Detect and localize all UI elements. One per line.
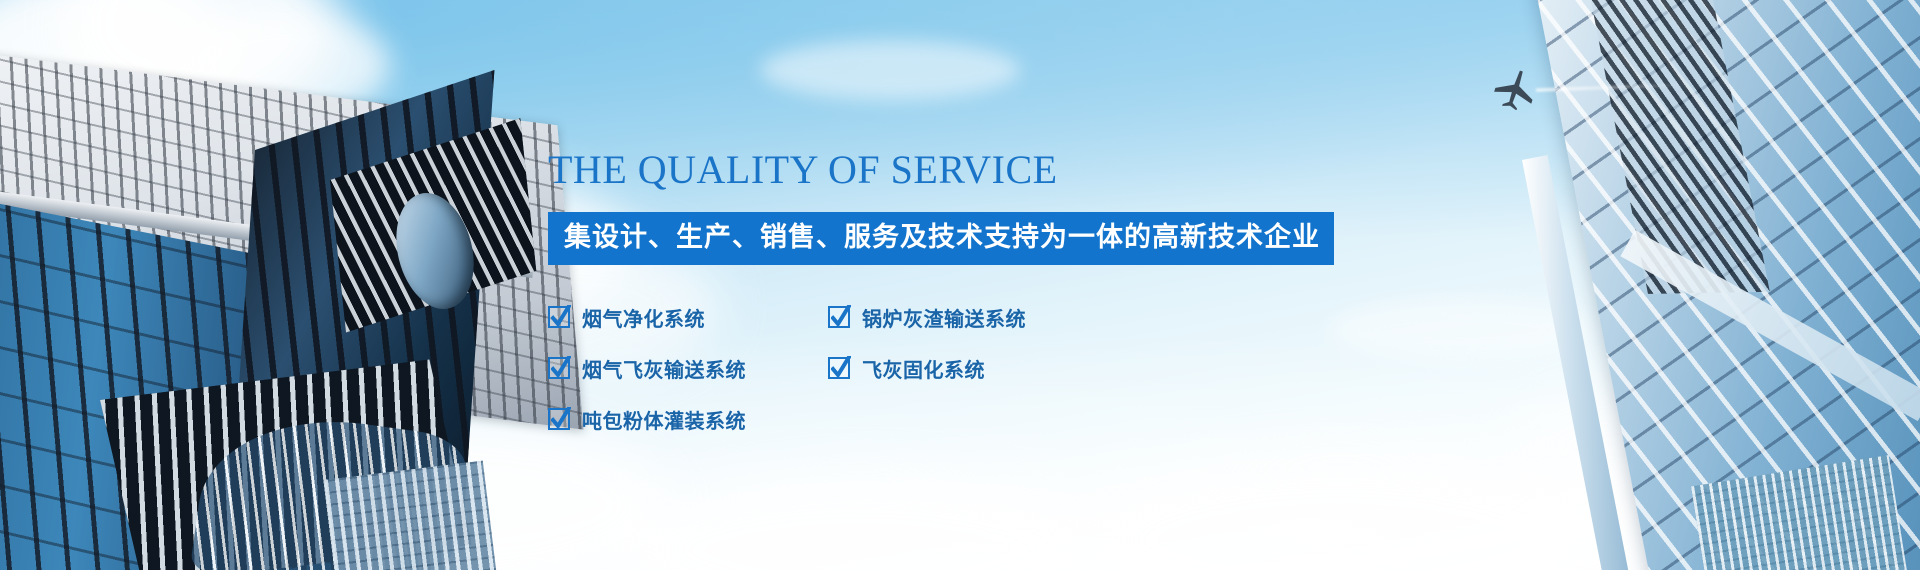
checkbox-checked-icon — [828, 357, 850, 379]
list-item[interactable]: 飞灰固化系统 — [828, 354, 1128, 383]
distant-building — [324, 461, 496, 570]
headline-english: THE QUALITY OF SERVICE — [548, 150, 1448, 190]
checkbox-checked-icon — [548, 306, 570, 328]
feature-label: 锅炉灰渣输送系统 — [862, 303, 1026, 332]
headline-chinese-bar: 集设计、生产、销售、服务及技术支持为一体的高新技术企业 — [548, 212, 1334, 265]
list-item[interactable]: 吨包粉体灌装系统 — [548, 405, 828, 434]
list-item[interactable]: 锅炉灰渣输送系统 — [828, 303, 1128, 332]
checkbox-checked-icon — [828, 306, 850, 328]
list-item[interactable]: 烟气净化系统 — [548, 303, 828, 332]
feature-label: 飞灰固化系统 — [862, 354, 985, 383]
checkbox-checked-icon — [548, 408, 570, 430]
airplane-icon — [1492, 68, 1538, 110]
feature-list: 烟气净化系统 锅炉灰渣输送系统 烟气飞灰输送系统 飞灰固化系统 — [548, 303, 1148, 456]
feature-label: 烟气净化系统 — [582, 303, 705, 332]
hero-banner: THE QUALITY OF SERVICE 集设计、生产、销售、服务及技术支持… — [0, 0, 1920, 570]
cloud-shape — [760, 40, 1020, 100]
left-building-image — [0, 0, 560, 570]
banner-content: THE QUALITY OF SERVICE 集设计、生产、销售、服务及技术支持… — [548, 150, 1448, 456]
list-item[interactable]: 烟气飞灰输送系统 — [548, 354, 828, 383]
feature-label: 吨包粉体灌装系统 — [582, 405, 746, 434]
checkbox-checked-icon — [548, 357, 570, 379]
feature-label: 烟气飞灰输送系统 — [582, 354, 746, 383]
